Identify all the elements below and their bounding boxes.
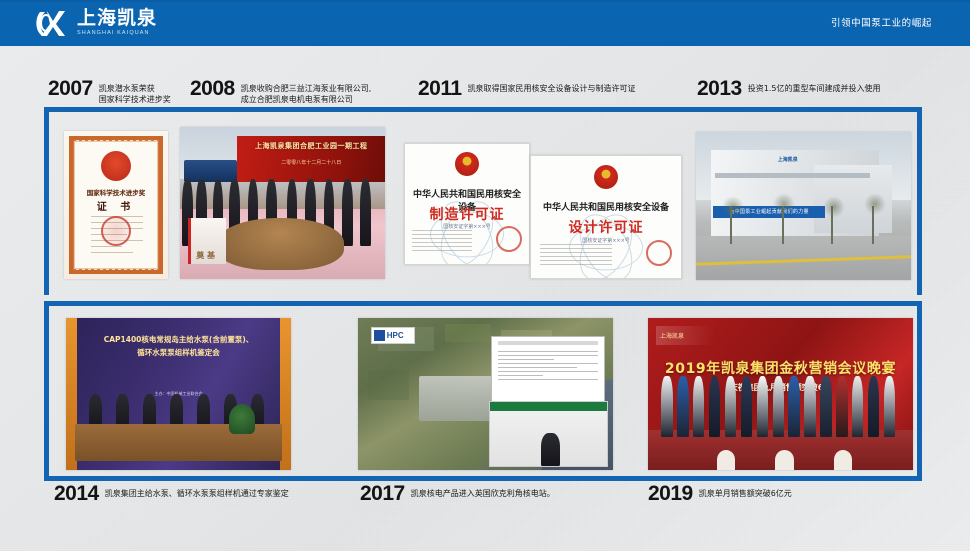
banquet-logo: 上海凯泉 — [656, 326, 714, 346]
person-photo-overlay — [489, 401, 608, 467]
year-description: 凯泉取得国家民用核安全设备设计与制造许可证 — [468, 78, 636, 95]
banquet-title: 2019年凯泉集团金秋营销会议晚宴 — [659, 358, 903, 378]
logo-english-text: SHANGHAI KAIQUAN — [77, 30, 157, 37]
year-label: 2017 — [360, 483, 405, 504]
certificate-title: 国家科学技术进步奖 — [75, 187, 157, 197]
timeline-entry-2011: 2011 凯泉取得国家民用核安全设备设计与制造许可证 — [418, 78, 636, 99]
year-label: 2014 — [54, 483, 99, 504]
company-logo: 上海凯泉 SHANGHAI KAIQUAN — [36, 7, 157, 39]
timeline-entry-2017: 2017 凯泉核电产品进入英国欣克利角核电站。 — [360, 483, 555, 504]
year-description: 凯泉潜水泵荣获 国家科学技术进步奖 — [99, 78, 171, 105]
year-label: 2019 — [648, 483, 693, 504]
year-description: 凯泉收购合肥三益江海泵业有限公司, 成立合肥凯泉电机电泵有限公司 — [241, 78, 372, 105]
kaiquan-logo-mark — [36, 8, 70, 38]
header-slogan: 引领中国泵工业的崛起 — [831, 15, 932, 29]
year-description: 凯泉单月销售额突破6亿元 — [699, 483, 792, 500]
certificate-inner: 国家科学技术进步奖 证 书 — [74, 141, 158, 269]
timeline-entry-2013: 2013 投资1.5亿的重型车间建成并投入使用 — [697, 78, 880, 99]
year-description: 凯泉核电产品进入英国欣克利角核电站。 — [411, 483, 555, 500]
license-detail-lines — [412, 230, 472, 254]
photo-design-license: 中华人民共和国民用核安全设备 设计许可证 国核安证字第×××号 — [530, 155, 682, 279]
dirt-mound — [217, 218, 344, 270]
timeline-entry-2008: 2008 凯泉收购合肥三益江海泵业有限公司, 成立合肥凯泉电机电泵有限公司 — [190, 78, 371, 105]
year-description: 投资1.5亿的重型车间建成并投入使用 — [748, 78, 881, 95]
hpc-badge: HPC — [371, 327, 415, 344]
national-emblem-icon — [594, 165, 618, 189]
photo-manufacturing-license: 中华人民共和国民用核安全设备 制造许可证 国核安证字第×××号 — [404, 143, 530, 265]
header-bar: 上海凯泉 SHANGHAI KAIQUAN 引领中国泵工业的崛起 — [0, 0, 970, 46]
factory-logo-text: 上海凯泉 — [778, 156, 798, 163]
license-title: 中华人民共和国民用核安全设备 — [537, 200, 675, 213]
photo-2019-banquet: 上海凯泉 2019年凯泉集团金秋营销会议晚宴 庆祝集团九月销售额突破6亿 — [648, 318, 913, 470]
hpc-badge-text: HPC — [387, 331, 404, 340]
national-emblem-icon — [101, 151, 131, 181]
potted-plant — [229, 404, 255, 434]
license-highlight: 制造许可证 — [410, 204, 524, 224]
ceremony-banner-text: 上海凯泉集团合肥工业园一期工程 — [242, 141, 381, 151]
timeline-entry-2007: 2007 凯泉潜水泵荣获 国家科学技术进步奖 — [48, 78, 171, 105]
year-label: 2011 — [418, 78, 462, 99]
photo-national-science-award-certificate: 国家科学技术进步奖 证 书 — [64, 131, 168, 279]
timeline-entry-2014: 2014 凯泉集团主给水泵、循环水泵泵组样机通过专家鉴定 — [54, 483, 289, 504]
logo-chinese-text: 上海凯泉 — [77, 7, 157, 29]
year-label: 2007 — [48, 78, 93, 99]
photo-heavy-workshop-factory: 上海凯泉 为中国泵工业崛起贡献我们的力量 — [696, 132, 911, 280]
national-emblem-icon — [455, 152, 479, 176]
foundation-stone-text: 奠 基 — [188, 250, 223, 261]
timeline-entry-2019: 2019 凯泉单月销售额突破6亿元 — [648, 483, 792, 504]
certificate-subtitle: 证 书 — [75, 198, 157, 213]
certificate-seal-icon — [101, 216, 131, 246]
certificate-document-overlay — [491, 336, 605, 402]
hpc-logo-icon — [374, 330, 385, 341]
ceremony-banner-date: 二零零八年十二月二十八日 — [242, 159, 381, 166]
year-label: 2008 — [190, 78, 235, 99]
year-description: 凯泉集团主给水泵、循环水泵泵组样机通过专家鉴定 — [105, 483, 289, 500]
building-stripe — [715, 173, 870, 177]
photo-cap1400-appraisal-meeting: CAP1400核电常规岛主给水泵(含前置泵)、 循环水泵泵组样机鉴定会 主办：中… — [66, 318, 291, 470]
photo-hinkley-point-c: HPC — [358, 318, 613, 470]
header-top-edge — [0, 0, 970, 2]
license-seal-icon — [496, 226, 522, 252]
year-label: 2013 — [697, 78, 742, 99]
license-seal-icon — [646, 240, 672, 266]
photo-hefei-groundbreaking: 上海凯泉集团合肥工业园一期工程 二零零八年十二月二十八日 奠 基 — [180, 127, 385, 279]
license-highlight: 设计许可证 — [537, 217, 675, 237]
meeting-banner-text: CAP1400核电常规岛主给水泵(含前置泵)、 循环水泵泵组样机鉴定会 — [89, 333, 269, 359]
slide-canvas: 上海凯泉 SHANGHAI KAIQUAN 引领中国泵工业的崛起 2007 凯泉… — [0, 0, 970, 551]
license-detail-lines — [540, 244, 612, 268]
